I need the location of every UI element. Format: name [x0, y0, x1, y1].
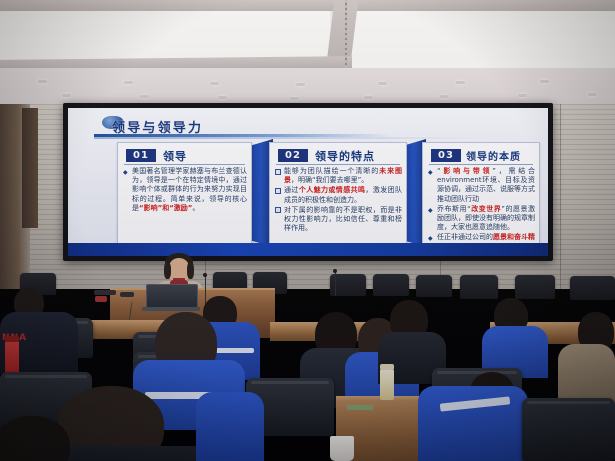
- slide-bullet-item: 对下属的影响靠的不是职权，而是非权力性影响力，比如信任、尊重和榜样作用。: [275, 206, 402, 234]
- slide-bullet-item: ◆“影响与带领”，需结合environment环境、目标及资源协调，通过示范、说…: [428, 167, 535, 204]
- door-frame: [22, 108, 38, 228]
- body-text: 。: [192, 204, 199, 212]
- slide-column-1: 01 领导 ◆美国著名管理学家赫塞与布兰查德认为，领导是一个在特定情境中，通过影…: [117, 142, 252, 248]
- body-text: ，明确“我们要去哪里”。: [291, 176, 368, 184]
- slide-title: 领导与领导力: [112, 117, 203, 136]
- chair: [522, 398, 615, 461]
- podium-microphone-head: [203, 273, 207, 277]
- slide-bullet-item: 能够为团队描绘一个清晰的未来图景，明确“我们要去哪里”。: [275, 167, 402, 185]
- column-heading-02: 领导的特点: [315, 148, 375, 164]
- body-text: 对下属的影响靠的不是职权，而是非权力性影响力，比如信任、尊重和榜样作用。: [284, 206, 402, 232]
- slide-column-3: 03 领导的本质 ◆“影响与带领”，需结合environment环境、目标及资源…: [422, 142, 540, 248]
- highlighted-text: 改变世界: [471, 205, 502, 213]
- square-bullet-icon: [275, 207, 281, 213]
- column-rule: [276, 164, 400, 165]
- column-body-1: ◆美国著名管理学家赫塞与布兰查德认为，领导是一个在特定情境中，通过影响个体或群体…: [123, 167, 247, 214]
- projection-screen: 领导与领导力 01 领导 ◆美国著名管理学家赫塞与布兰查德认为，领导是一个在特定…: [63, 103, 553, 261]
- paper-cup: [330, 436, 354, 461]
- diamond-bullet-icon: ◆: [428, 168, 433, 177]
- column-rule: [124, 164, 245, 165]
- desk-object: [120, 292, 134, 297]
- body-text: 通过: [284, 186, 299, 194]
- body-text: 能够为团队描绘一个清晰的: [284, 167, 379, 175]
- highlighted-text: 个人魅力或情感共鸣: [299, 186, 366, 194]
- column-badge-02: 02: [278, 149, 308, 162]
- title-underline-secondary: [94, 137, 484, 139]
- diamond-bullet-icon: ◆: [428, 206, 433, 215]
- slide-bullet-item: 通过个人魅力或情感共鸣，激发团队成员的积极性和创造力。: [275, 186, 402, 204]
- audience-shoulders: [418, 386, 528, 461]
- column-body-2: 能够为团队描绘一个清晰的未来图景，明确“我们要去哪里”。通过个人魅力或情感共鸣，…: [275, 167, 402, 234]
- diamond-bullet-icon: ◆: [123, 168, 128, 177]
- body-text: 任正非通过公司的: [437, 233, 493, 241]
- square-bullet-icon: [275, 169, 281, 175]
- audience-shoulders: [558, 344, 615, 404]
- column-badge-03: 03: [431, 149, 461, 162]
- presentation-slide: 领导与领导力 01 领导 ◆美国著名管理学家赫塞与布兰查德认为，领导是一个在特定…: [68, 108, 548, 256]
- square-bullet-icon: [275, 188, 281, 194]
- meeting-room-photo: 领导与领导力 01 领导 ◆美国著名管理学家赫塞与布兰查德认为，领导是一个在特定…: [0, 0, 615, 461]
- highlighted-text: 影响与带领: [441, 167, 493, 175]
- slide-column-2: 02 领导的特点 能够为团队描绘一个清晰的未来图景，明确“我们要去哪里”。通过个…: [269, 142, 407, 248]
- ceiling: [0, 0, 615, 108]
- bottle-cap: [5, 336, 19, 342]
- column-heading-01: 领导: [163, 148, 187, 164]
- slide-title-area: 领导与领导力: [78, 114, 538, 140]
- desk-red-object: [95, 296, 107, 302]
- presenter-hair-side: [164, 262, 171, 279]
- table-microphone: [335, 272, 336, 296]
- laptop-base: [142, 307, 200, 311]
- ceiling-drop-wire: [345, 0, 347, 72]
- column-badge-01: 01: [126, 149, 156, 162]
- slide-columns: 01 领导 ◆美国著名管理学家赫塞与布兰查德认为，领导是一个在特定情境中，通过影…: [77, 142, 539, 246]
- red-water-bottle: [5, 340, 19, 374]
- bottle-cap: [380, 364, 394, 370]
- front-row-chair: [460, 275, 498, 299]
- audience-shoulders: [196, 392, 264, 461]
- column-heading-03: 领导的本质: [466, 148, 521, 163]
- slide-bullet-item: ◆乔布斯用“改变世界”的愿景激励团队，即使没有明确的规章制度，大家也愿意追随他。: [428, 205, 535, 233]
- slide-footer-band: [68, 243, 548, 256]
- presenter-hair-side: [187, 262, 194, 279]
- water-bottle: [380, 368, 394, 400]
- front-row-chair: [515, 275, 555, 299]
- slide-bullet-item: ◆美国著名管理学家赫塞与布兰查德认为，领导是一个在特定情境中，通过影响个体或群体…: [123, 167, 247, 213]
- desk-object: [94, 290, 116, 295]
- body-text: 乔布斯用“: [437, 205, 471, 213]
- front-row-chair: [416, 275, 452, 297]
- highlighted-text: “影响”和“激励”: [139, 204, 192, 212]
- desk-paper: [347, 405, 373, 410]
- front-row-chair: [570, 276, 615, 300]
- table-microphone-head: [333, 269, 337, 273]
- front-row-chair: [373, 274, 409, 296]
- column-rule: [429, 164, 533, 165]
